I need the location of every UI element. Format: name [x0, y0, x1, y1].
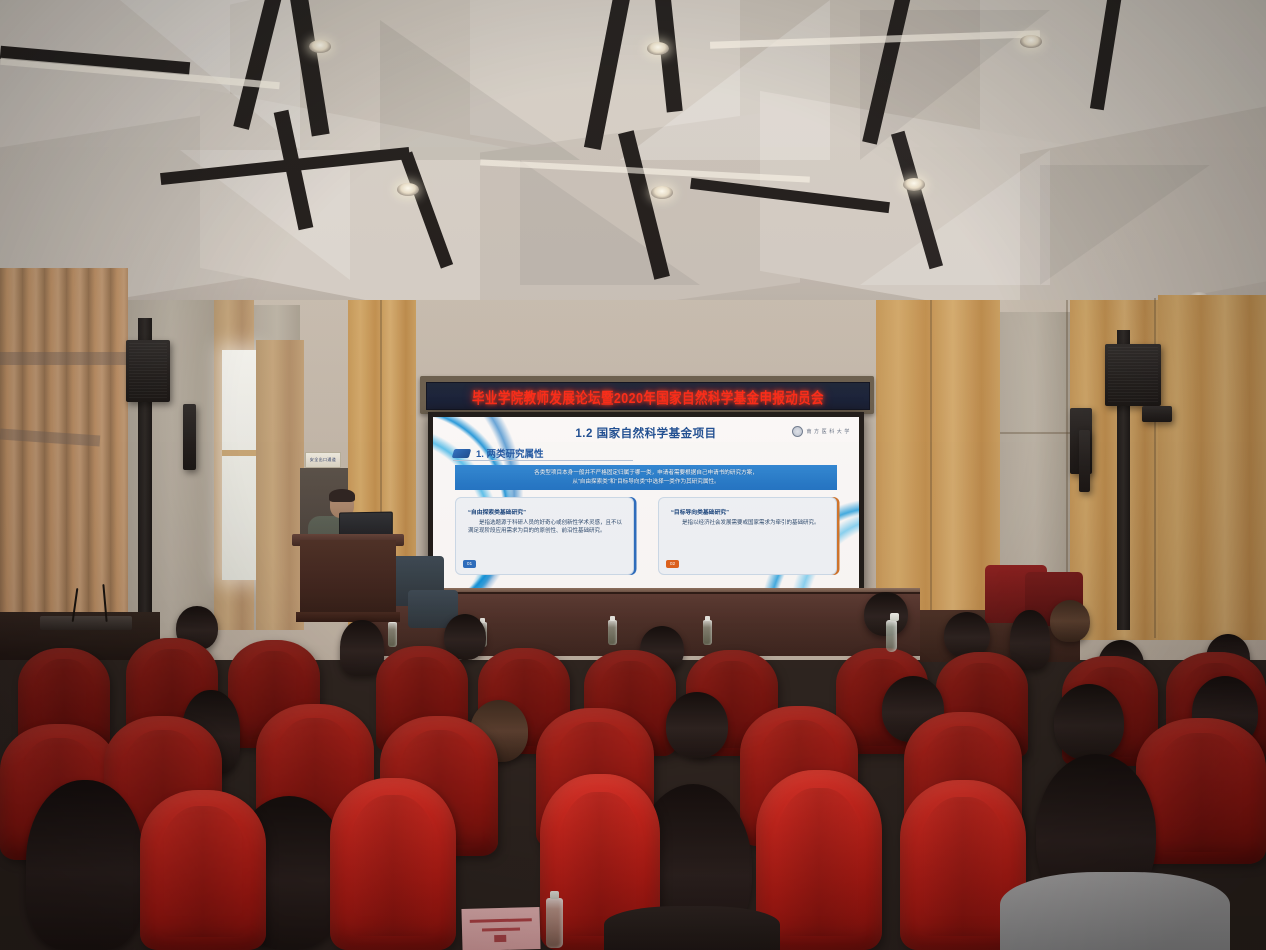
lectern-base — [296, 612, 400, 622]
slide-card-badge: 02 — [666, 560, 679, 568]
speaker-grill-icon — [1108, 347, 1158, 403]
faceted-ceiling — [0, 0, 1266, 345]
booklet-line — [482, 928, 520, 932]
booklet-line — [470, 918, 532, 923]
exit-sign: 安全出口通道 — [305, 452, 341, 468]
wall-loudspeaker — [126, 340, 170, 402]
audience-shoulders — [1000, 872, 1230, 950]
slide-card-body: 是指以经济社会发展需要或国家需求为牵引的基础研究。 — [671, 519, 826, 527]
av-control-unit — [40, 616, 132, 630]
window-mullion — [222, 450, 256, 456]
slide-card-free-exploration: “自由探索类基础研究” 是指选题源于科研人员的好奇心或创新性学术灵感，且不以满足… — [455, 497, 634, 575]
slide-card-title: “目标导向类基础研究” — [671, 507, 826, 516]
ceiling-facet-shade — [380, 20, 580, 160]
led-banner: 毕业学院教师发展论坛暨2020年国家自然科学基金申报动员会 — [426, 382, 870, 410]
ceiling-downlight — [397, 183, 419, 196]
seat-crease — [1154, 733, 1248, 853]
slide-section-label: 1. 两类研究属性 — [476, 446, 544, 460]
audience-shoulders — [604, 906, 780, 950]
ceiling-facet-shade — [860, 150, 1050, 285]
slide-highlight-line-2: 从“自由探索类”和“目标导向类”中选择一类作为其研究属性。 — [572, 478, 719, 487]
wall-loudspeaker-small — [183, 404, 196, 470]
university-logo: 南 方 医 科 大 学 — [792, 426, 850, 437]
seat-crease — [774, 788, 865, 936]
water-bottle — [886, 620, 897, 652]
audience-head — [1050, 600, 1090, 642]
stage-back-wall-wood — [876, 300, 1000, 630]
ceiling-facet-shade — [1040, 165, 1210, 285]
slide-card-body: 是指选题源于科研人员的好奇心或创新性学术灵感，且不以满足现阶段应用需求为目的的原… — [468, 519, 623, 536]
ceiling-downlight — [651, 186, 673, 199]
slide-highlight-box: 各类型项目本身一般并不严格固定归属于哪一类，申请者需要根据自己申请书的研究方案，… — [455, 465, 837, 490]
slide-card-badge: 01 — [463, 560, 476, 568]
wall-loudspeaker-bracket — [1142, 406, 1172, 422]
conference-hall-photo: 安全出口通道 毕业学院教师发展论坛暨2020年国家自然科学基金申报动员会 1.2… — [0, 0, 1266, 950]
hall-window — [222, 350, 256, 580]
wall-panel-wood — [256, 340, 304, 630]
university-logo-text: 南 方 医 科 大 学 — [806, 428, 850, 435]
ceiling-downlight — [647, 42, 669, 55]
wall-loudspeaker — [1105, 344, 1161, 406]
audience-head — [1010, 610, 1050, 670]
seat-crease — [348, 795, 439, 936]
audience-head — [26, 780, 144, 950]
presentation-slide: 1.2 国家自然科学基金项目 南 方 医 科 大 学 1. 两类研究属性 各类型… — [433, 417, 859, 589]
speaker-grill-icon — [129, 343, 167, 399]
wall-seam — [1000, 432, 1070, 434]
curtain-band — [0, 352, 128, 365]
seat-crease — [918, 797, 1009, 936]
university-logo-icon — [792, 426, 803, 437]
exit-sign-label: 安全出口通道 — [310, 457, 336, 463]
slide-section-heading: 1. 两类研究属性 — [453, 446, 544, 460]
water-bottle — [546, 898, 563, 948]
audience-head — [1054, 684, 1124, 760]
ceiling-downlight — [309, 40, 331, 53]
ceiling-facet-shade — [620, 0, 830, 160]
slide-card-title: “自由探索类基础研究” — [468, 507, 623, 516]
audience-head — [666, 692, 728, 758]
projection-screen: 1.2 国家自然科学基金项目 南 方 医 科 大 学 1. 两类研究属性 各类型… — [428, 412, 864, 594]
audience-head — [340, 620, 384, 676]
audience-seat[interactable] — [140, 790, 266, 950]
presenter-hair — [329, 489, 355, 502]
lectern — [300, 540, 396, 622]
seat-crease — [158, 806, 249, 937]
water-bottle — [703, 620, 712, 645]
program-booklet[interactable] — [461, 907, 540, 950]
section-bullet-icon — [452, 449, 472, 458]
wall-seam — [930, 300, 932, 630]
wall-panel-wood — [1158, 295, 1266, 640]
water-bottle — [388, 622, 397, 647]
ceiling-downlight — [903, 178, 925, 191]
water-bottle — [608, 620, 617, 645]
ceiling-facet-shade — [520, 160, 700, 285]
slide-card-row: “自由探索类基础研究” 是指选题源于科研人员的好奇心或创新性学术灵感，且不以满足… — [455, 497, 837, 575]
slide-highlight-line-1: 各类型项目本身一般并不严格固定归属于哪一类，申请者需要根据自己申请书的研究方案， — [534, 469, 758, 478]
slide-card-goal-oriented: “目标导向类基础研究” 是指以经济社会发展需要或国家需求为牵引的基础研究。 02 — [658, 497, 837, 575]
slide-section-rule — [453, 460, 633, 461]
audience-seat[interactable] — [330, 778, 456, 950]
led-banner-text: 毕业学院教师发展论坛暨2020年国家自然科学基金申报动员会 — [472, 385, 824, 407]
ceiling-downlight — [1020, 35, 1042, 48]
booklet-mark — [494, 935, 506, 942]
wall-loudspeaker-small — [1079, 430, 1090, 492]
